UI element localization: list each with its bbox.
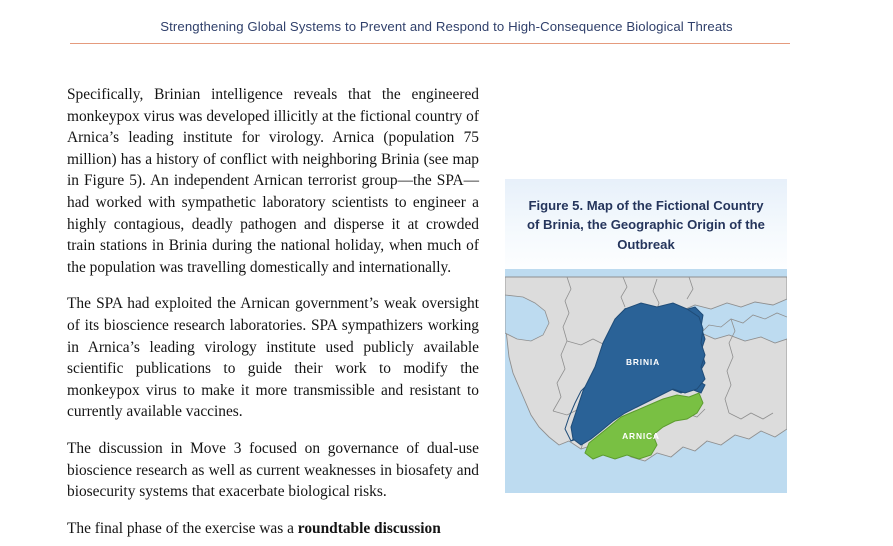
paragraph-4-emphasis: roundtable discussion (298, 520, 441, 537)
map-label-arnica: ARNICA (622, 431, 660, 441)
figure-caption: Figure 5. Map of the Fictional Country o… (505, 179, 787, 269)
map-of-brinia-and-arnica: BRINIA ARNICA (505, 269, 787, 493)
figure-5: Figure 5. Map of the Fictional Country o… (505, 179, 787, 493)
running-header: Strengthening Global Systems to Prevent … (0, 18, 893, 36)
paragraph-4: The final phase of the exercise was a ro… (67, 518, 787, 540)
paragraph-4-lead: The final phase of the exercise was a (67, 520, 298, 537)
header-divider-rule (70, 43, 790, 44)
header-title: Strengthening Global Systems to Prevent … (160, 19, 733, 34)
map-label-brinia: BRINIA (626, 357, 660, 367)
page-content: Figure 5. Map of the Fictional Country o… (67, 84, 787, 546)
